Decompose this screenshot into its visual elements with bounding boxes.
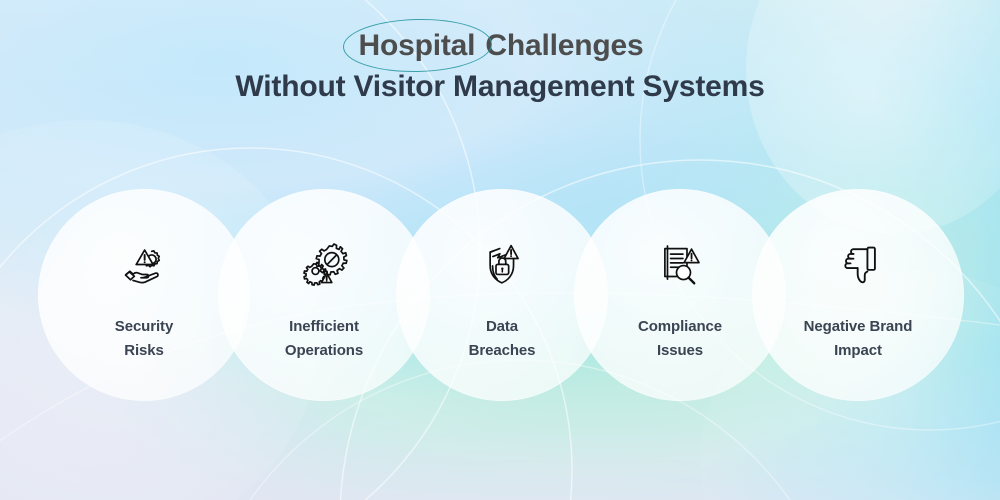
title-line-1-rest: Challenges <box>477 29 643 62</box>
challenge-item-negative-brand-impact[interactable]: Negative Brand Impact <box>752 189 964 401</box>
gears-blocked-warning-icon <box>296 237 352 293</box>
challenge-label: Inefficient Operations <box>285 315 363 362</box>
challenge-circle-row: Security Risks Inefficient Operations <box>0 189 1000 401</box>
shield-lock-breach-warning-icon <box>474 237 530 293</box>
thumbs-down-icon <box>830 237 886 293</box>
title-highlight-text: Hospital <box>359 29 476 62</box>
title-line-2: Without Visitor Management Systems <box>0 69 1000 106</box>
infographic-canvas: Hospital Challenges Without Visitor Mana… <box>0 0 1000 500</box>
document-warning-magnifier-icon <box>652 237 708 293</box>
challenge-label: Data Breaches <box>469 315 536 362</box>
challenge-label: Security Risks <box>115 315 173 362</box>
page-title: Hospital Challenges Without Visitor Mana… <box>0 28 1000 105</box>
title-highlight-word: Hospital <box>357 28 478 65</box>
title-line-1: Hospital Challenges <box>357 28 644 65</box>
hand-gear-warning-icon <box>116 237 172 293</box>
challenge-label: Compliance Issues <box>638 315 722 362</box>
challenge-label: Negative Brand Impact <box>804 315 913 362</box>
